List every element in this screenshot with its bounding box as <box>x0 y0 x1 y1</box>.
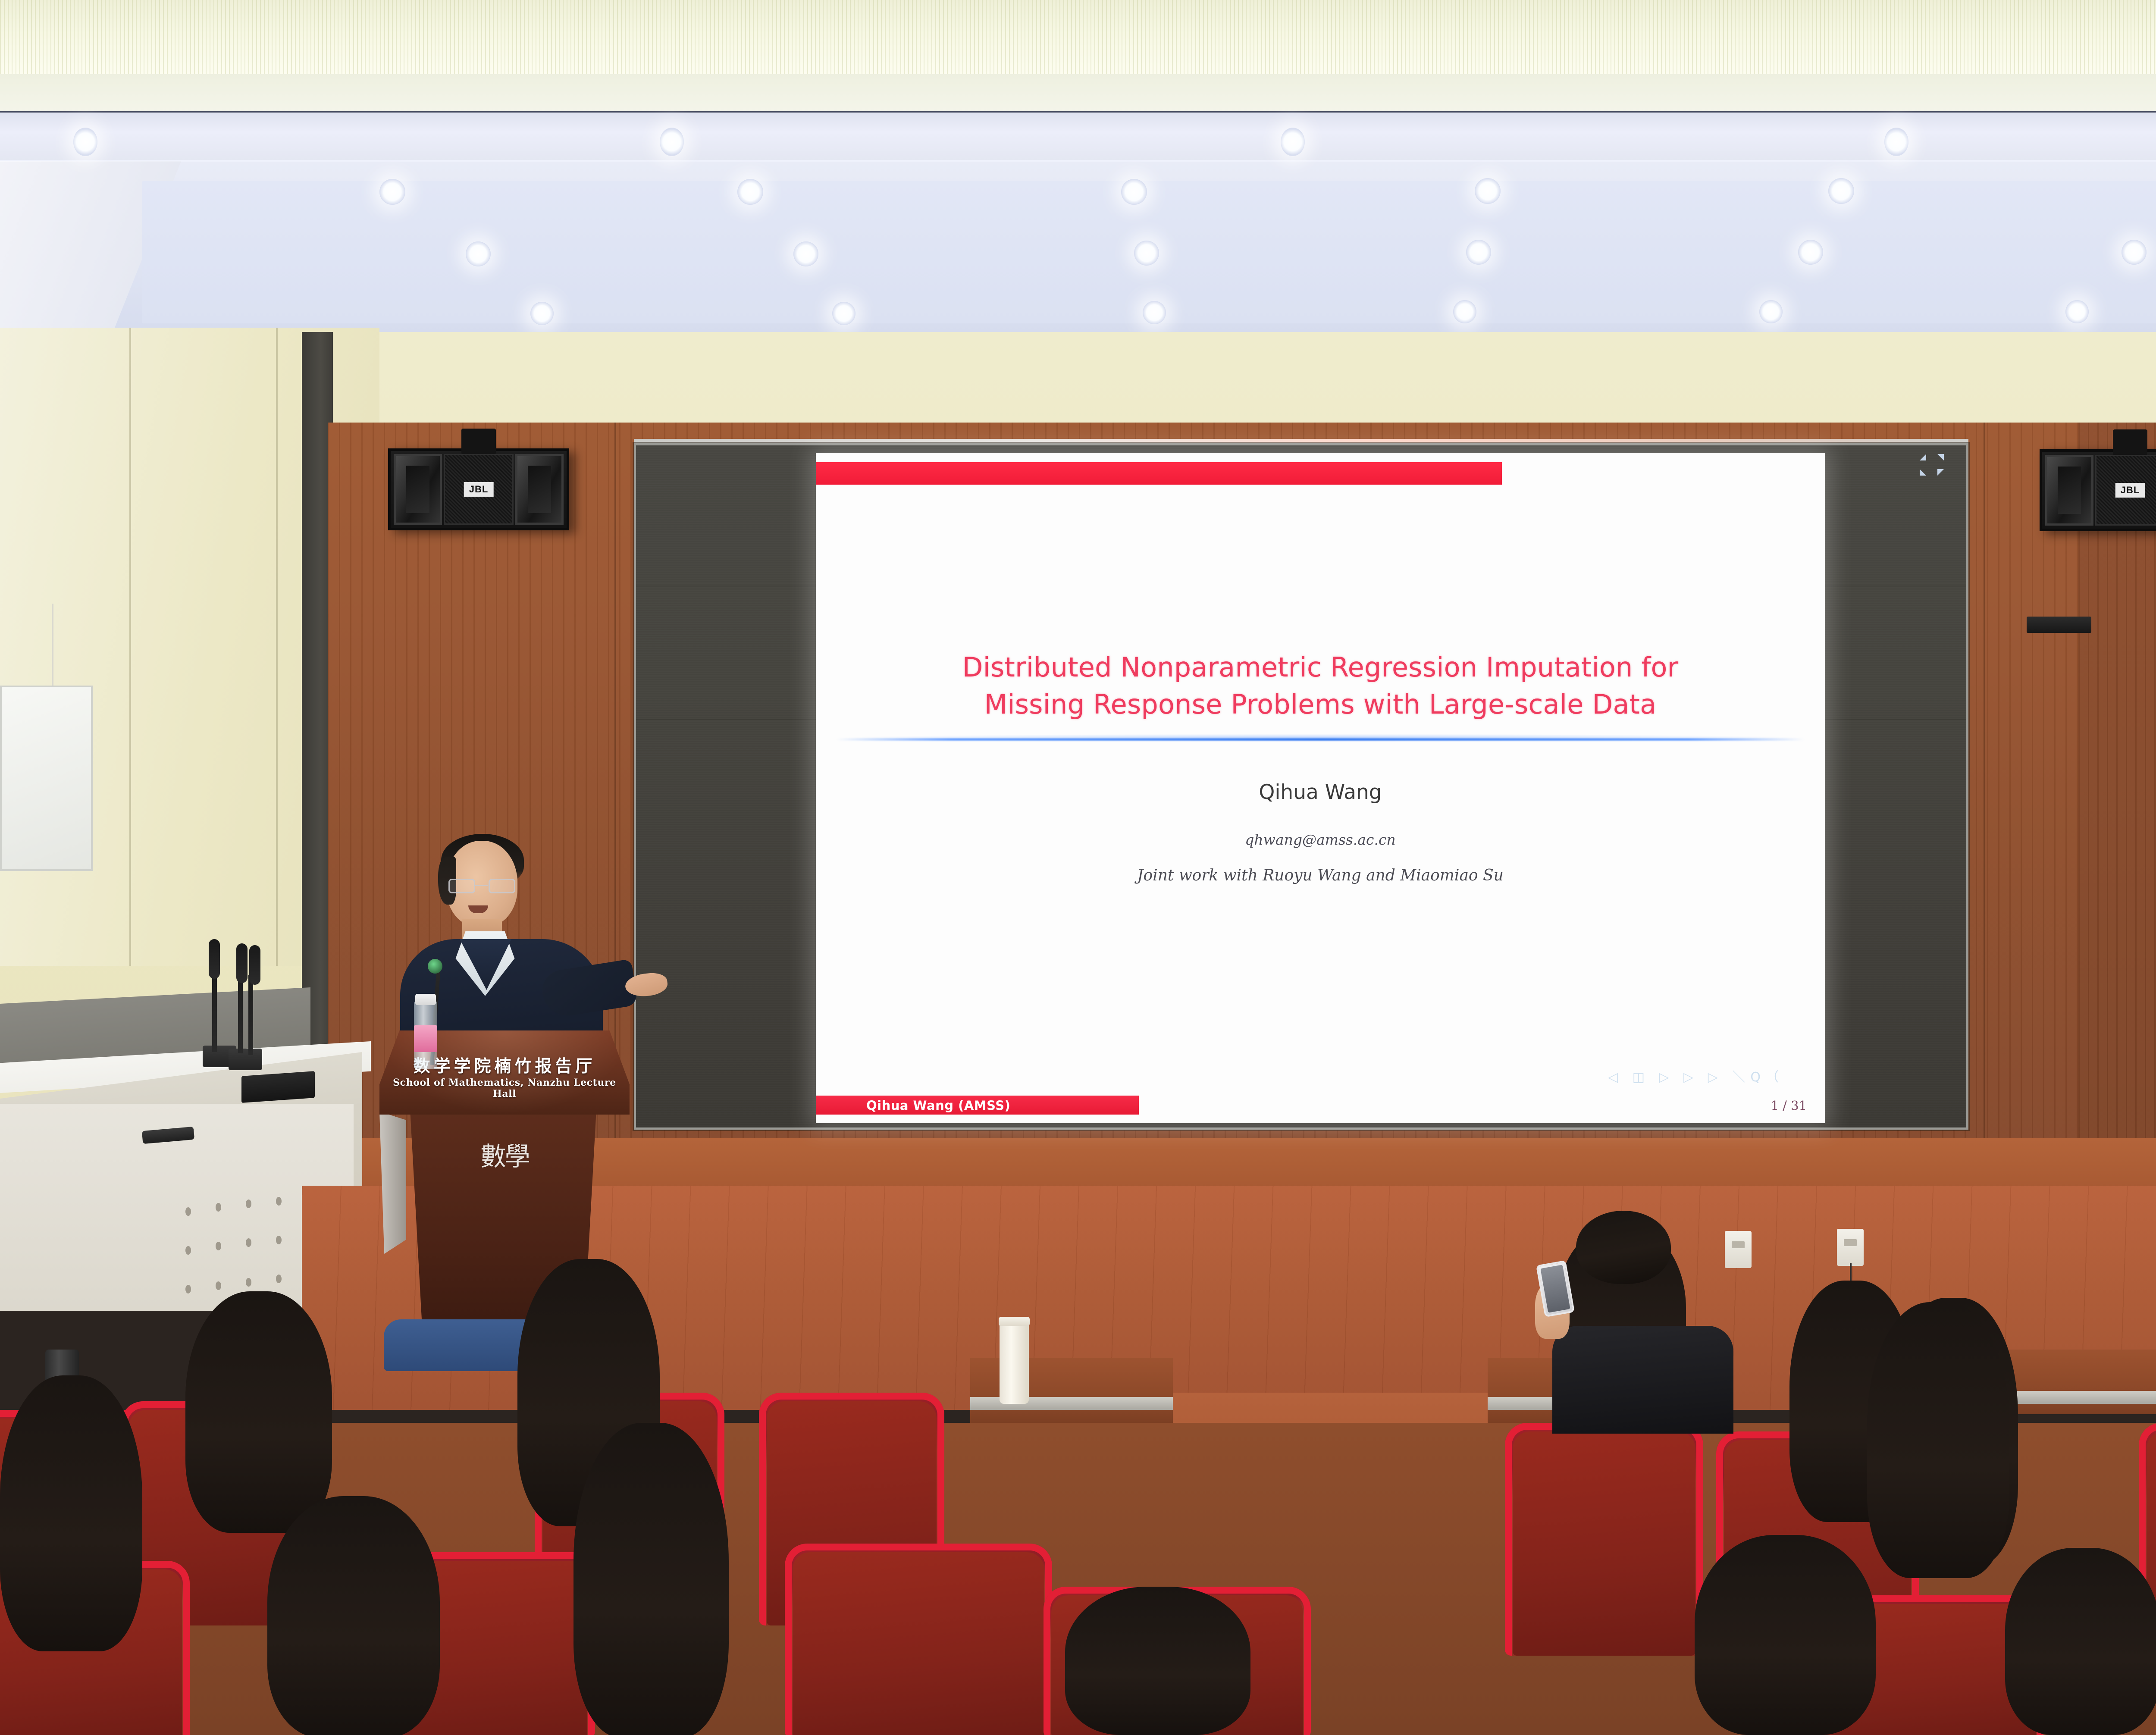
speaker-woofer-grille: JBL <box>2095 455 2156 526</box>
slide-joint-work: Joint work with Ruoyu Wang and Miaomiao … <box>816 867 1825 884</box>
gooseneck-mic-capsule <box>209 939 220 979</box>
downlight <box>1121 179 1147 205</box>
drink-tumbler <box>1000 1322 1029 1404</box>
jbl-speaker-left: JBL <box>388 448 569 530</box>
drink-tumbler-lid <box>999 1317 1030 1326</box>
title-underline <box>836 738 1805 741</box>
panel-perforation <box>276 1275 282 1283</box>
downlight <box>1134 241 1159 266</box>
gooseneck-mic-arm <box>248 975 253 1055</box>
ceiling-upper-cove <box>0 0 2156 75</box>
slide-title-line-1: Distributed Nonparametric Regression Imp… <box>876 649 1764 686</box>
downlight <box>2065 300 2089 323</box>
downlight <box>1475 178 1501 204</box>
gooseneck-mic-arm <box>238 974 243 1053</box>
panel-perforation <box>246 1278 251 1287</box>
downlight <box>379 179 405 205</box>
slide-header-bar <box>816 462 1502 485</box>
lecture-hall-photo: JBL JBL Distributed Nonparametric <box>0 0 2156 1735</box>
downlight <box>1453 300 1476 323</box>
ceiling-band <box>0 74 2156 113</box>
gooseneck-mic-base <box>229 1049 262 1070</box>
seat-back-cushion <box>793 1552 1044 1735</box>
panel-perforation <box>185 1246 191 1255</box>
speaker-mount-bracket <box>461 429 496 454</box>
slide-page-number: 1 / 31 <box>1771 1098 1807 1113</box>
speaker-woofer-grille: JBL <box>444 454 514 525</box>
slide-email: qhwang@amss.ac.cn <box>816 831 1825 848</box>
speaker-horn-left <box>394 454 442 525</box>
beamer-nav-glyphs[interactable]: ◁ ◫ ▷ ▷ ▷ ＼Q（ <box>1608 1066 1784 1085</box>
downlight <box>793 241 818 266</box>
wood-panel-seam <box>1984 423 1985 1156</box>
lectern-side-panel <box>379 1112 406 1254</box>
panel-perforation <box>246 1199 251 1208</box>
audience-torso <box>1552 1326 1733 1434</box>
projected-slide: Distributed Nonparametric Regression Imp… <box>816 453 1825 1123</box>
exit-fullscreen-icon[interactable] <box>1920 454 1944 476</box>
downlight <box>1143 301 1166 324</box>
gooseneck-mic-capsule <box>236 943 248 983</box>
speaker-horn-right <box>515 454 564 525</box>
glasses-bridge <box>475 885 488 886</box>
speaker-horn-left <box>2045 455 2093 526</box>
panel-perforation <box>216 1203 221 1212</box>
panel-perforation <box>216 1281 221 1290</box>
av-control-box[interactable] <box>241 1071 315 1103</box>
auditorium-seat[interactable] <box>785 1544 1052 1735</box>
gooseneck-mic-arm <box>212 972 217 1052</box>
downlight <box>73 128 97 156</box>
panel-perforation <box>246 1238 251 1247</box>
wall-whiteboard <box>0 686 93 871</box>
downlight <box>660 128 684 156</box>
slide-title-line-2: Missing Response Problems with Large-sca… <box>876 686 1764 723</box>
jbl-speaker-right: JBL <box>2040 449 2156 531</box>
glasses-lens-right <box>489 879 515 893</box>
downlight <box>1798 240 1823 265</box>
power-outlet <box>1837 1229 1864 1266</box>
audience-head <box>2005 1548 2156 1735</box>
downlight <box>1884 128 1908 156</box>
panel-perforation <box>276 1197 282 1206</box>
glasses-lens-left <box>448 879 475 893</box>
panel-perforation <box>216 1242 221 1250</box>
downlight <box>1759 300 1783 323</box>
downlight <box>1281 128 1305 156</box>
wall-seam <box>276 328 278 966</box>
audience-head <box>0 1375 142 1651</box>
panel-perforation <box>185 1207 191 1216</box>
slide-title: Distributed Nonparametric Regression Imp… <box>876 649 1764 723</box>
smartphone-screen <box>1540 1265 1570 1312</box>
podium-microphone-capsule <box>428 959 442 974</box>
screen-mount-bar <box>2027 617 2091 633</box>
downlight <box>2122 240 2147 265</box>
water-bottle-label <box>414 1025 437 1052</box>
downlight <box>466 241 491 266</box>
screen-top-rail <box>634 439 1968 443</box>
audience-head <box>1065 1587 1250 1735</box>
seat-back-cushion <box>1513 1431 1695 1656</box>
panel-perforation <box>276 1236 282 1244</box>
downlight <box>1828 178 1854 204</box>
power-outlet <box>1725 1231 1752 1268</box>
downlight <box>530 302 554 325</box>
jbl-logo: JBL <box>2115 483 2145 498</box>
audience-head <box>185 1291 332 1533</box>
panel-perforation <box>185 1285 191 1293</box>
audience-hairbun <box>1576 1211 1671 1284</box>
downlight <box>737 179 763 205</box>
wall-seam <box>129 328 131 966</box>
stage-wood-wall-right <box>2078 423 2156 1156</box>
presenter-glasses <box>448 879 515 893</box>
gooseneck-mic-capsule <box>249 945 260 985</box>
audience-head <box>1867 1302 2009 1578</box>
lectern-sign-english: School of Mathematics, Nanzhu Lecture Ha… <box>379 1077 630 1099</box>
lectern-seal-emblem: 數學 <box>480 1145 529 1169</box>
audience-head <box>573 1423 729 1735</box>
auditorium-seat[interactable] <box>1505 1423 1703 1656</box>
audience-head <box>1695 1535 1876 1735</box>
jbl-logo: JBL <box>464 482 494 497</box>
audience-head <box>267 1496 440 1735</box>
speaker-mount-bracket <box>2113 429 2147 455</box>
water-bottle-cap <box>415 994 436 1005</box>
slide-author: Qihua Wang <box>816 780 1825 804</box>
downlight <box>1466 240 1491 265</box>
slide-footer-name: Qihua Wang (AMSS) <box>866 1098 1010 1113</box>
ceiling-soffit <box>0 111 2156 162</box>
downlight <box>832 302 856 325</box>
